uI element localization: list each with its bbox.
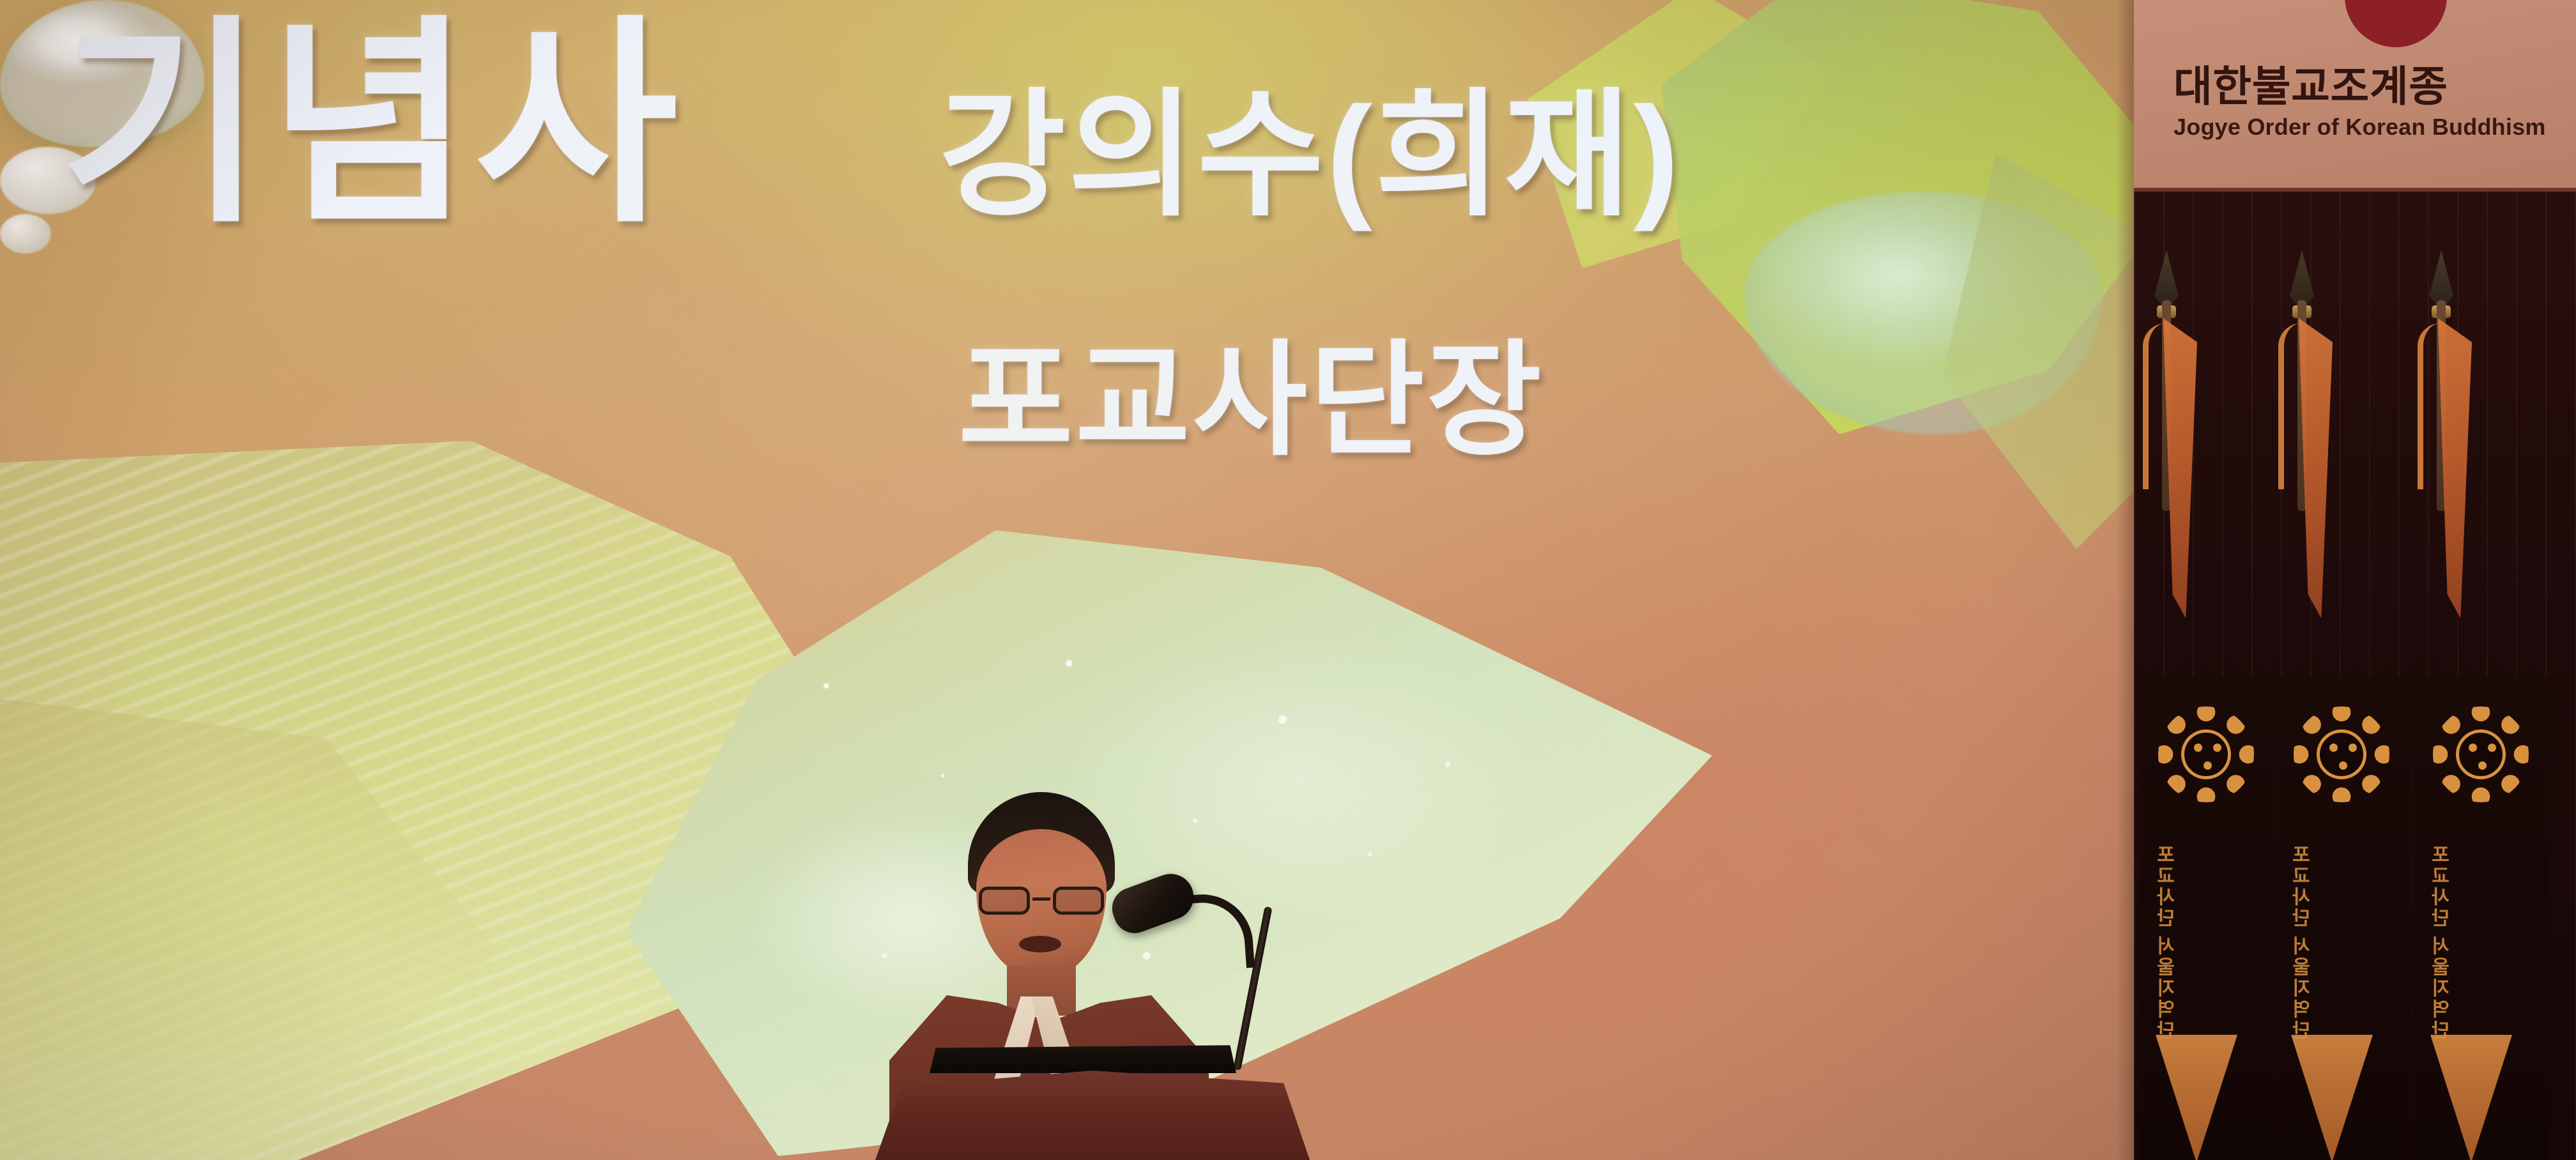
glasses-lens-left [979,887,1030,915]
flower-dot [2329,744,2338,752]
ceremonial-banner: 포교사단 서울지역단 [2415,192,2549,1160]
photo-stage: 기념사 강의수(희재) 포교사단장 대한불교조계종 Jogye Order of… [0,0,2576,1160]
banner-label: 포교사단 서울지역단 [2154,844,2182,1041]
lotus-flower-icon [2158,706,2254,802]
lotus-flower-icon [2433,706,2529,802]
lotus-flower-icon [2294,706,2389,802]
banner-cloth: 포교사단 서울지역단 [2276,677,2410,1160]
flower-dot [2349,744,2357,752]
slide-speaker-name: 강의수(희재) [939,83,1682,227]
flower-dot [2204,761,2212,770]
banner-cloth-tail [2156,1035,2237,1160]
podium [875,1071,1310,1160]
ceremonial-banner: 포교사단 서울지역단 [2140,192,2274,1160]
water-droplet-top-right [1744,192,2102,434]
flower-dot [2488,744,2496,752]
flower-core [2181,729,2231,779]
flower-dot [2478,761,2487,770]
organization-sign: 대한불교조계종 Jogye Order of Korean Buddhism [2134,0,2576,192]
banner-label: 포교사단 서울지역단 [2429,844,2457,1041]
speaker-mouth [1019,936,1061,952]
stage-right-wall: 대한불교조계종 Jogye Order of Korean Buddhism [2134,0,2576,1160]
flower-dot [2469,744,2477,752]
flower-core [2456,729,2506,779]
banner-cloth-tail [2430,1035,2512,1160]
banner-cloth-tail [2291,1035,2373,1160]
glasses-bridge [1032,897,1050,901]
water-droplet-small [0,214,51,254]
water-droplet-medium [0,147,96,214]
banner-cloth: 포교사단 서울지역단 [2415,677,2549,1160]
glasses-icon [977,887,1105,916]
banner-label: 포교사단 서울지역단 [2290,844,2318,1041]
water-droplet-large [0,0,204,147]
banner-cloth: 포교사단 서울지역단 [2140,677,2274,1160]
stage-curtain: 포교사단 서울지역단 포교사 [2134,192,2576,1160]
flower-dot [2213,744,2221,752]
glasses-lens-right [1053,887,1104,915]
organization-name-english: Jogye Order of Korean Buddhism [2173,114,2546,141]
leaf-top-right [1661,0,2134,434]
jogye-emblem-icon [2345,0,2447,47]
flower-dot [2339,761,2347,770]
ceremonial-banner: 포교사단 서울지역단 [2276,192,2410,1160]
flower-dot [2194,744,2202,752]
leaf-left-blade [0,441,850,1160]
slide-speaker-role: 포교사단장 [958,335,1544,466]
flower-core [2317,729,2366,779]
leaf-far-right [1942,153,2134,549]
leaf-left-secondary [0,690,498,1160]
leaf-top-right-tip [1527,0,1834,268]
organization-name-korean: 대한불교조계종 [2173,52,2448,114]
screen-right-edge [2116,0,2135,1160]
